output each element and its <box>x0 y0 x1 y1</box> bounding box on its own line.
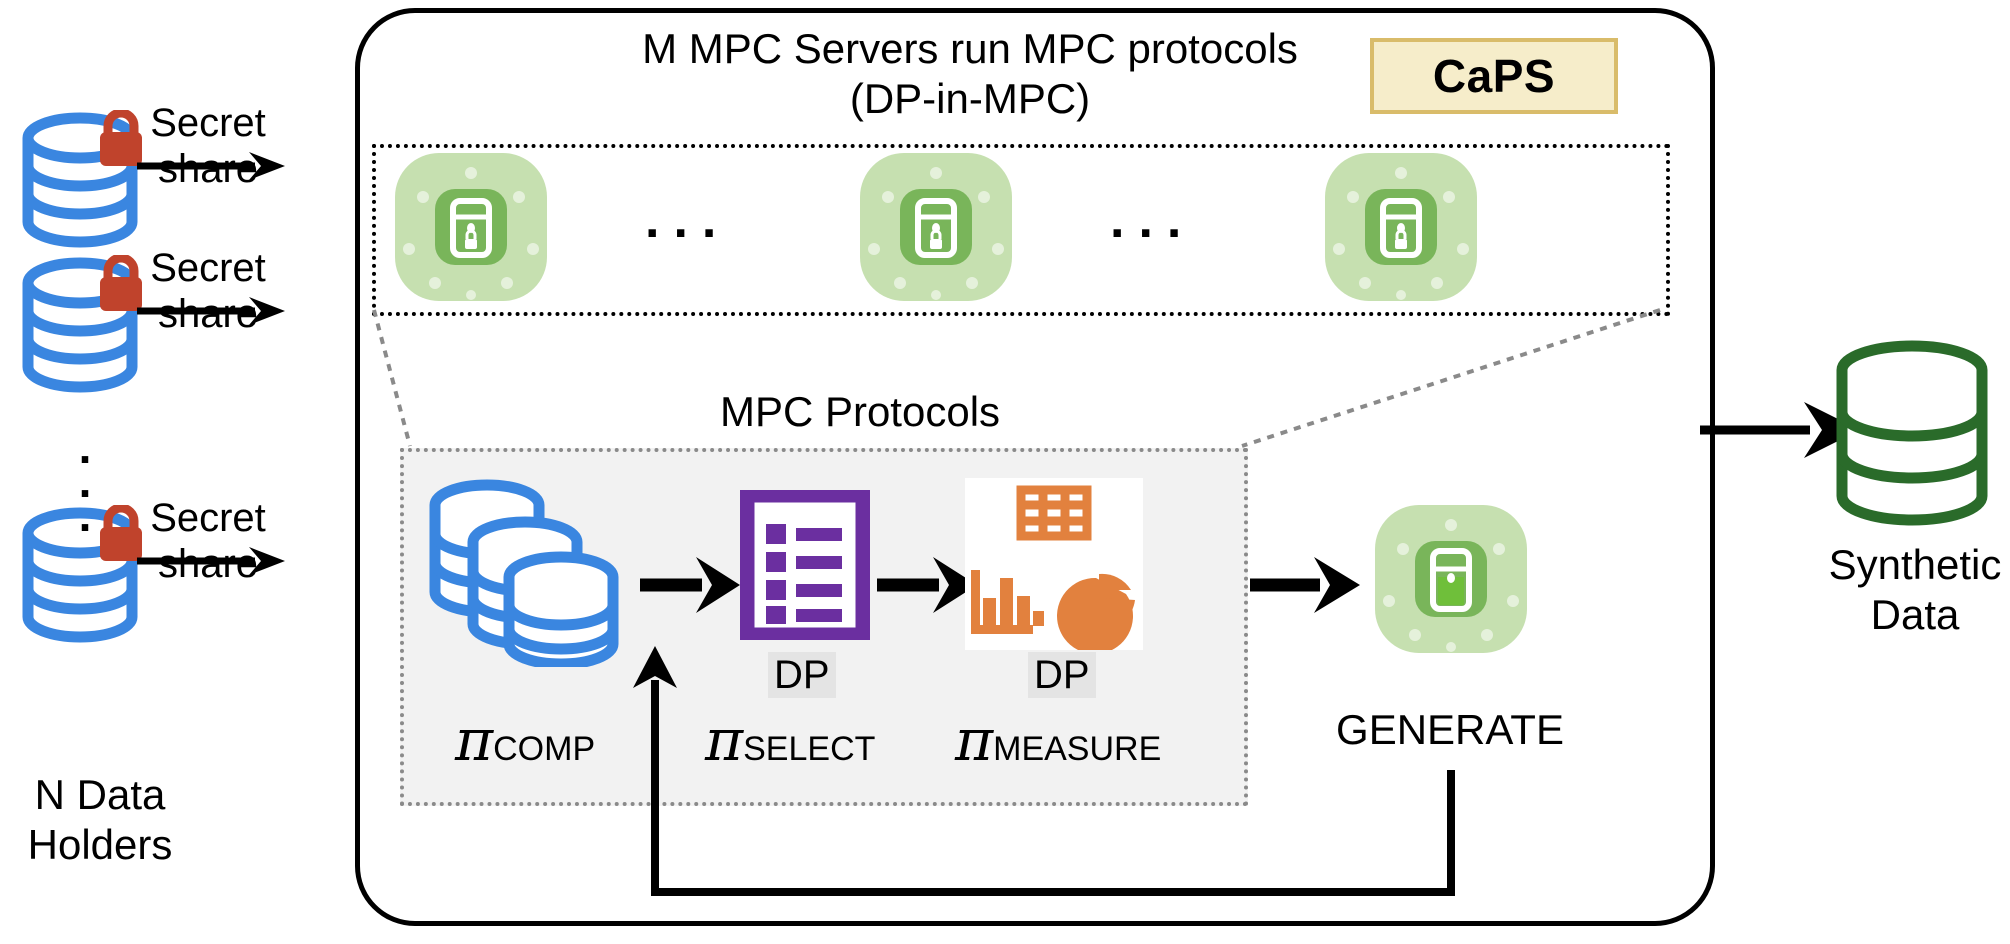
generate-arrow <box>1250 555 1360 620</box>
charts-icon <box>965 478 1143 655</box>
secret-share-arrow-3 <box>137 547 285 580</box>
caps-title: M MPC Servers run MPC protocols (DP-in-M… <box>430 24 1510 124</box>
caps-badge: CaPS <box>1370 38 1618 114</box>
list-document-icon <box>740 490 870 645</box>
pi-measure-label: πMEASURE <box>955 706 1161 774</box>
generate-label: GENERATE <box>1330 706 1570 754</box>
data-holders-caption: N Data Holders <box>0 770 200 870</box>
dp-badge-measure: DP <box>1028 652 1096 698</box>
secret-share-arrow-2 <box>137 297 285 330</box>
synthetic-data-caption: Synthetic Data <box>1790 540 2010 640</box>
pi-symbol: π <box>705 706 743 774</box>
pi-symbol: π <box>455 706 493 774</box>
mpc-server-1-icon[interactable] <box>395 153 547 306</box>
pi-subscript: COMP <box>493 730 595 768</box>
protocol-arrow-2 <box>877 555 977 620</box>
mpc-server-2-icon[interactable] <box>860 153 1012 306</box>
mpc-servers-ellipsis-1: ... <box>645 190 730 250</box>
pi-comp-label: πCOMP <box>455 706 595 774</box>
dp-badge-select: DP <box>768 652 836 698</box>
generate-server-icon[interactable] <box>1375 505 1527 658</box>
pi-subscript: SELECT <box>743 730 875 768</box>
pi-select-label: πSELECT <box>705 706 875 774</box>
pi-symbol: π <box>955 706 993 774</box>
mpc-protocols-label: MPC Protocols <box>620 388 1100 436</box>
secret-share-arrow-1 <box>137 152 285 185</box>
synthetic-data-database-icon <box>1830 340 1995 535</box>
caps-badge-label: CaPS <box>1433 49 1555 103</box>
protocol-arrow-1 <box>640 555 740 620</box>
database-stack-icon <box>425 472 625 672</box>
mpc-servers-ellipsis-2: ... <box>1110 190 1195 250</box>
pi-subscript: MEASURE <box>993 730 1161 768</box>
mpc-server-m-icon[interactable] <box>1325 153 1477 306</box>
